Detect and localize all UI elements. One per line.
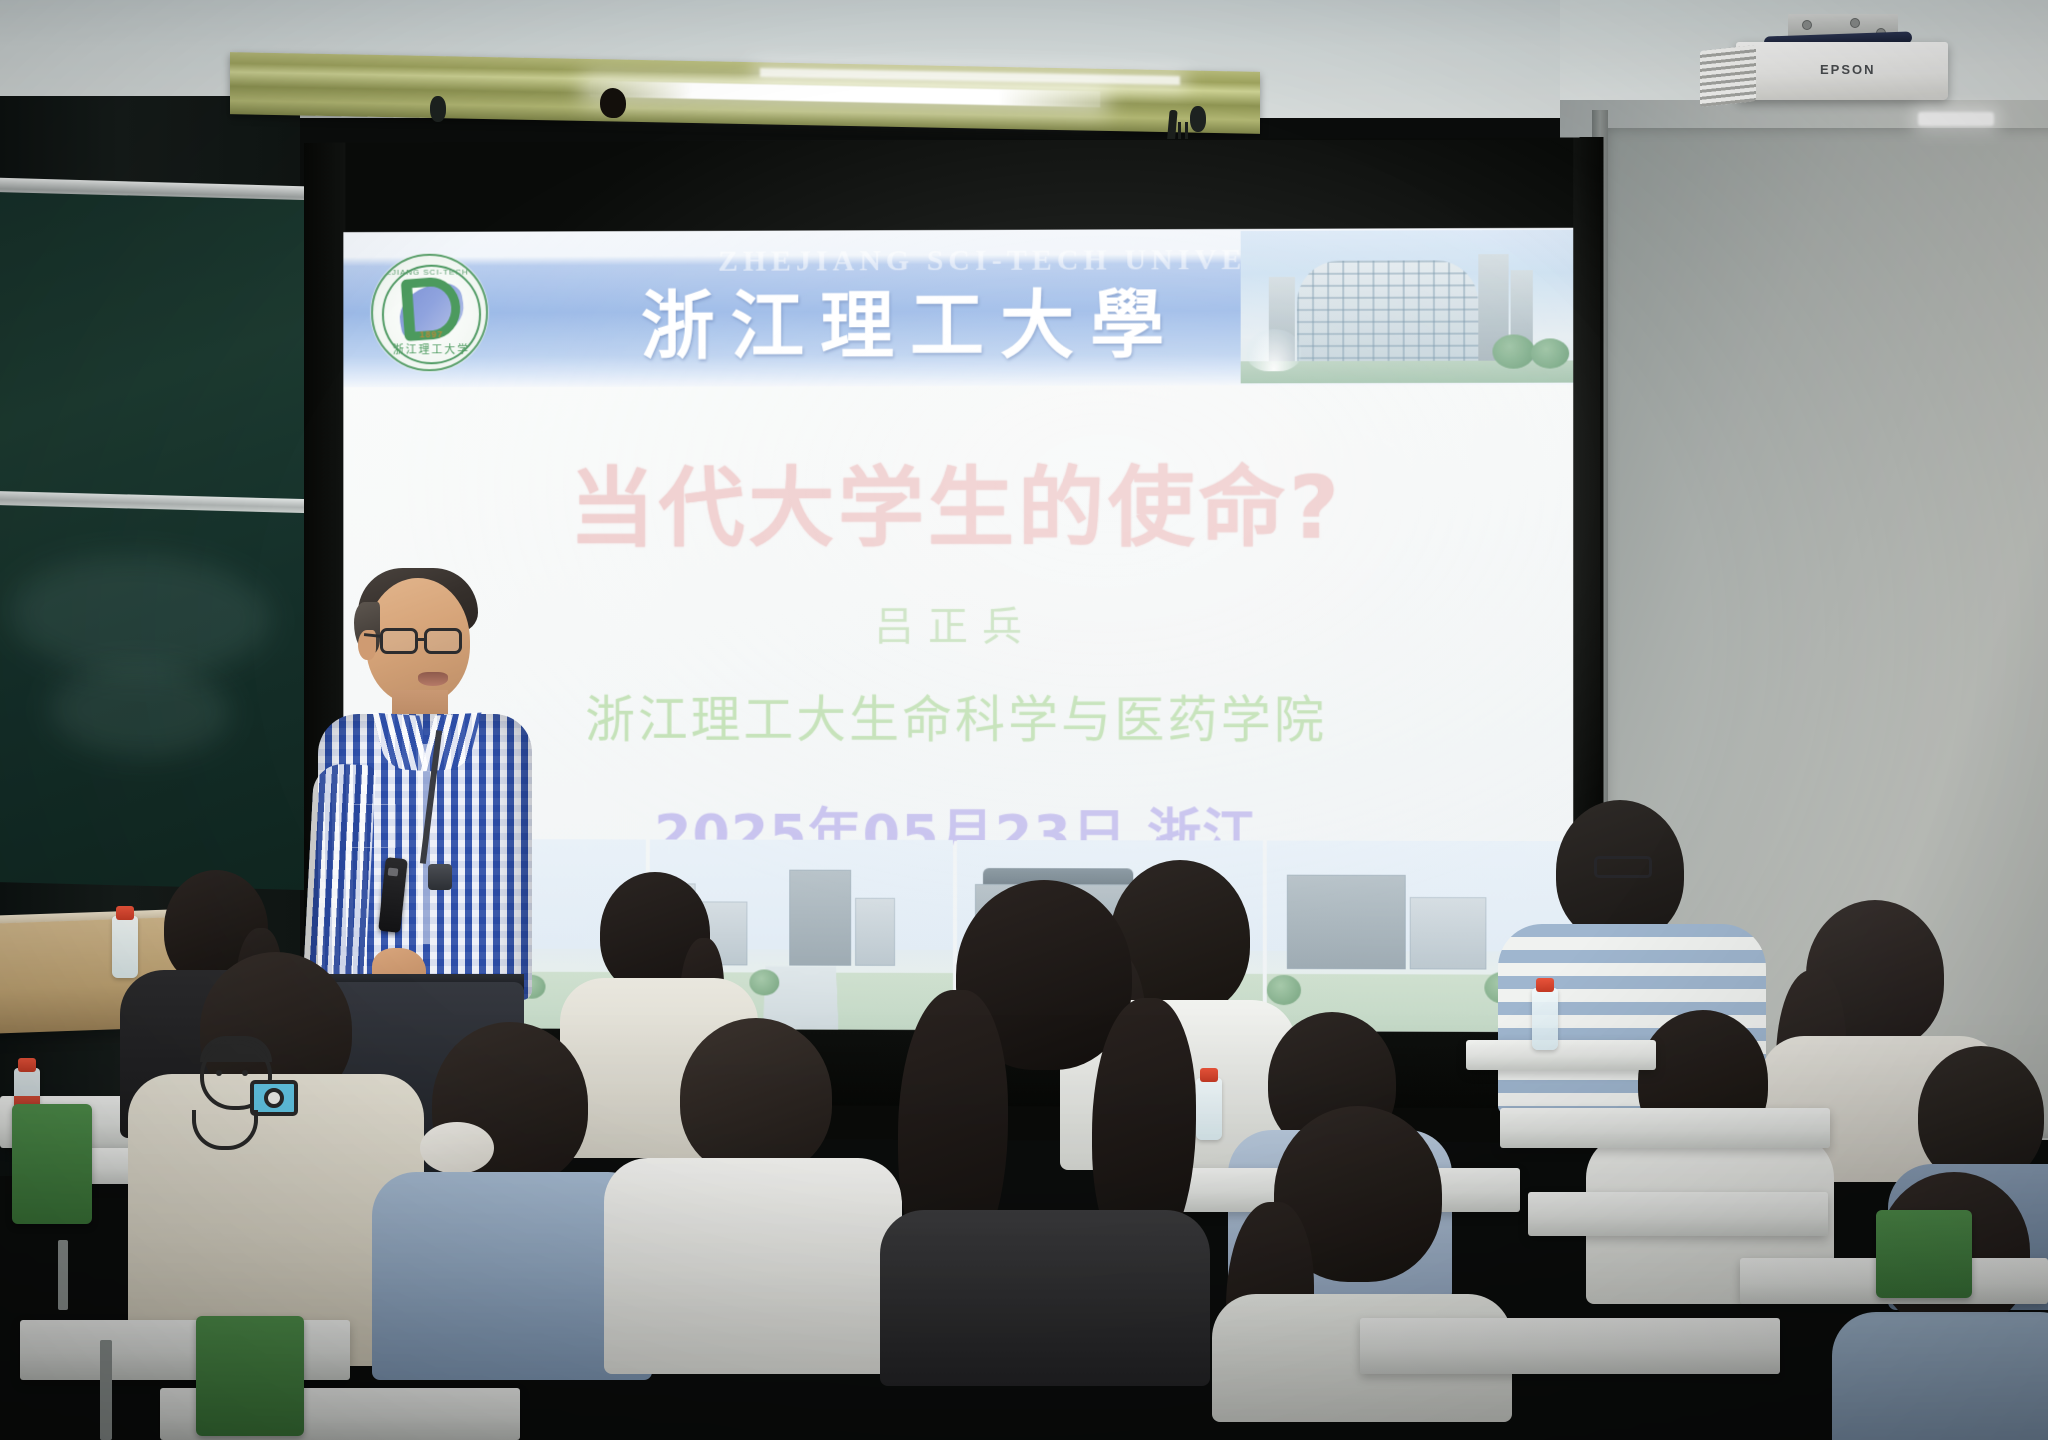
presenter (288, 568, 548, 998)
hair-scrunchie-icon (420, 1122, 494, 1174)
header-campus-photo (1241, 230, 1574, 384)
presenter-shirt-pocket (350, 804, 396, 848)
chair-right-1 (1876, 1210, 1972, 1298)
screen-top-border (304, 137, 1604, 232)
slide-title: 当代大学生的使命? (343, 437, 1573, 564)
desk-front-row-right (1360, 1318, 1780, 1374)
ceiling-downlight (1918, 112, 1994, 126)
ceiling-projector[interactable]: EPSON (1700, 14, 1950, 102)
eyeglasses-right-lens-icon (424, 628, 462, 654)
desk-back-right (1500, 1108, 1830, 1148)
projector-vent-grille-icon (1700, 45, 1756, 107)
bottle-cap-left (18, 1058, 36, 1072)
university-logo-icon: ZHEJIANG SCI-TECH UNIVERSITY 1897 浙江理工大学 (371, 254, 488, 372)
logo-founding-year: 1897 (373, 329, 488, 339)
desk-back-right-b (1466, 1040, 1656, 1070)
chair-left-2 (196, 1316, 304, 1436)
water-bottle-back-right (1532, 988, 1558, 1050)
presenter-badge (428, 864, 452, 890)
projector-brand-label: EPSON (1820, 62, 1876, 77)
logo-chinese-text: 浙江理工大学 (373, 341, 488, 357)
mount-screw-2 (1850, 18, 1860, 28)
hoodie-cartoon-print-icon (188, 1036, 308, 1156)
remote-button-icon[interactable] (388, 867, 399, 876)
chair-leg-1 (100, 1340, 112, 1440)
rail-clip-right (1190, 106, 1206, 132)
logo-arc-text: ZHEJIANG SCI-TECH UNIVERSITY (373, 268, 488, 277)
chair-left-1 (12, 1104, 92, 1224)
bottle-cap-back-right (1536, 978, 1554, 992)
lecture-hall-scene: EPSON ZHEJIANG SCI-TECH UNIVERSITY 浙江理工大… (0, 0, 2048, 1440)
mount-screw-1 (1802, 20, 1812, 30)
campus-building-glass-facade (1297, 260, 1478, 361)
student-front-long-hair (880, 880, 1210, 1380)
chalkboard (0, 192, 308, 890)
presenter-mouth (418, 672, 448, 686)
desk-mid-far-right (1528, 1192, 1828, 1236)
university-chinese-name: 浙江理工大學 (641, 265, 1281, 374)
rail-clip-left (430, 96, 446, 122)
ceiling-sensor-icon (600, 88, 626, 118)
student-glasses-icon (1594, 856, 1652, 878)
student-front-white-shirt (604, 1018, 904, 1370)
eyeglasses-bridge (418, 638, 426, 641)
campus-fountain (1247, 329, 1301, 371)
chair-leg-2 (58, 1240, 68, 1310)
slide-header-banner: ZHEJIANG SCI-TECH UNIVERSITY 浙江理工大學 ZHEJ… (343, 228, 1573, 388)
eyeglasses-left-lens-icon (380, 628, 418, 654)
